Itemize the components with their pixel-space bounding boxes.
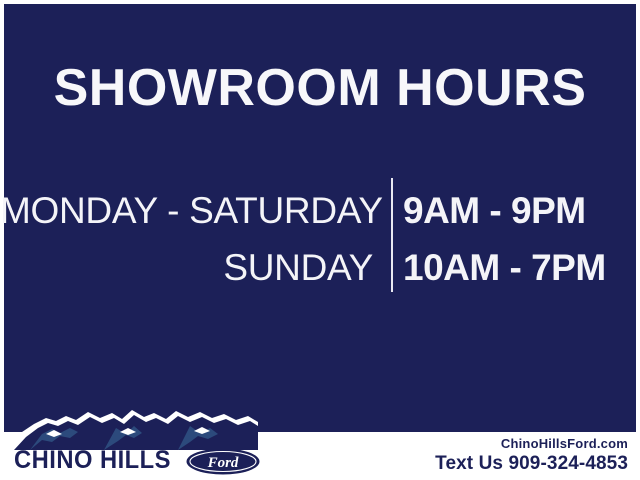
hours-days-label: SUNDAY <box>0 249 373 286</box>
hours-time-value: 9AM - 9PM <box>392 192 640 229</box>
text-us-phone[interactable]: Text Us 909-324-4853 <box>435 453 628 476</box>
mountain-range-icon <box>8 404 258 450</box>
dealer-name: CHINO HILLS <box>14 448 171 473</box>
table-row: SUNDAY 10AM - 7PM <box>0 239 640 296</box>
hours-table: MONDAY - SATURDAY 9AM - 9PM SUNDAY 10AM … <box>0 182 640 296</box>
table-row: MONDAY - SATURDAY 9AM - 9PM <box>0 182 640 239</box>
website-link[interactable]: ChinoHillsFord.com <box>435 436 628 452</box>
hours-days-label: MONDAY - SATURDAY <box>0 192 373 229</box>
contact-info: ChinoHillsFord.com Text Us 909-324-4853 <box>435 436 628 476</box>
ford-logo-icon: Ford <box>186 448 260 475</box>
showroom-hours-sign: SHOWROOM HOURS MONDAY - SATURDAY 9AM - 9… <box>0 0 640 480</box>
dealer-logo: CHINO HILLS Ford <box>8 404 258 480</box>
svg-text:Ford: Ford <box>207 455 239 471</box>
hours-time-value: 10AM - 7PM <box>392 249 640 286</box>
page-title: SHOWROOM HOURS <box>0 62 640 114</box>
